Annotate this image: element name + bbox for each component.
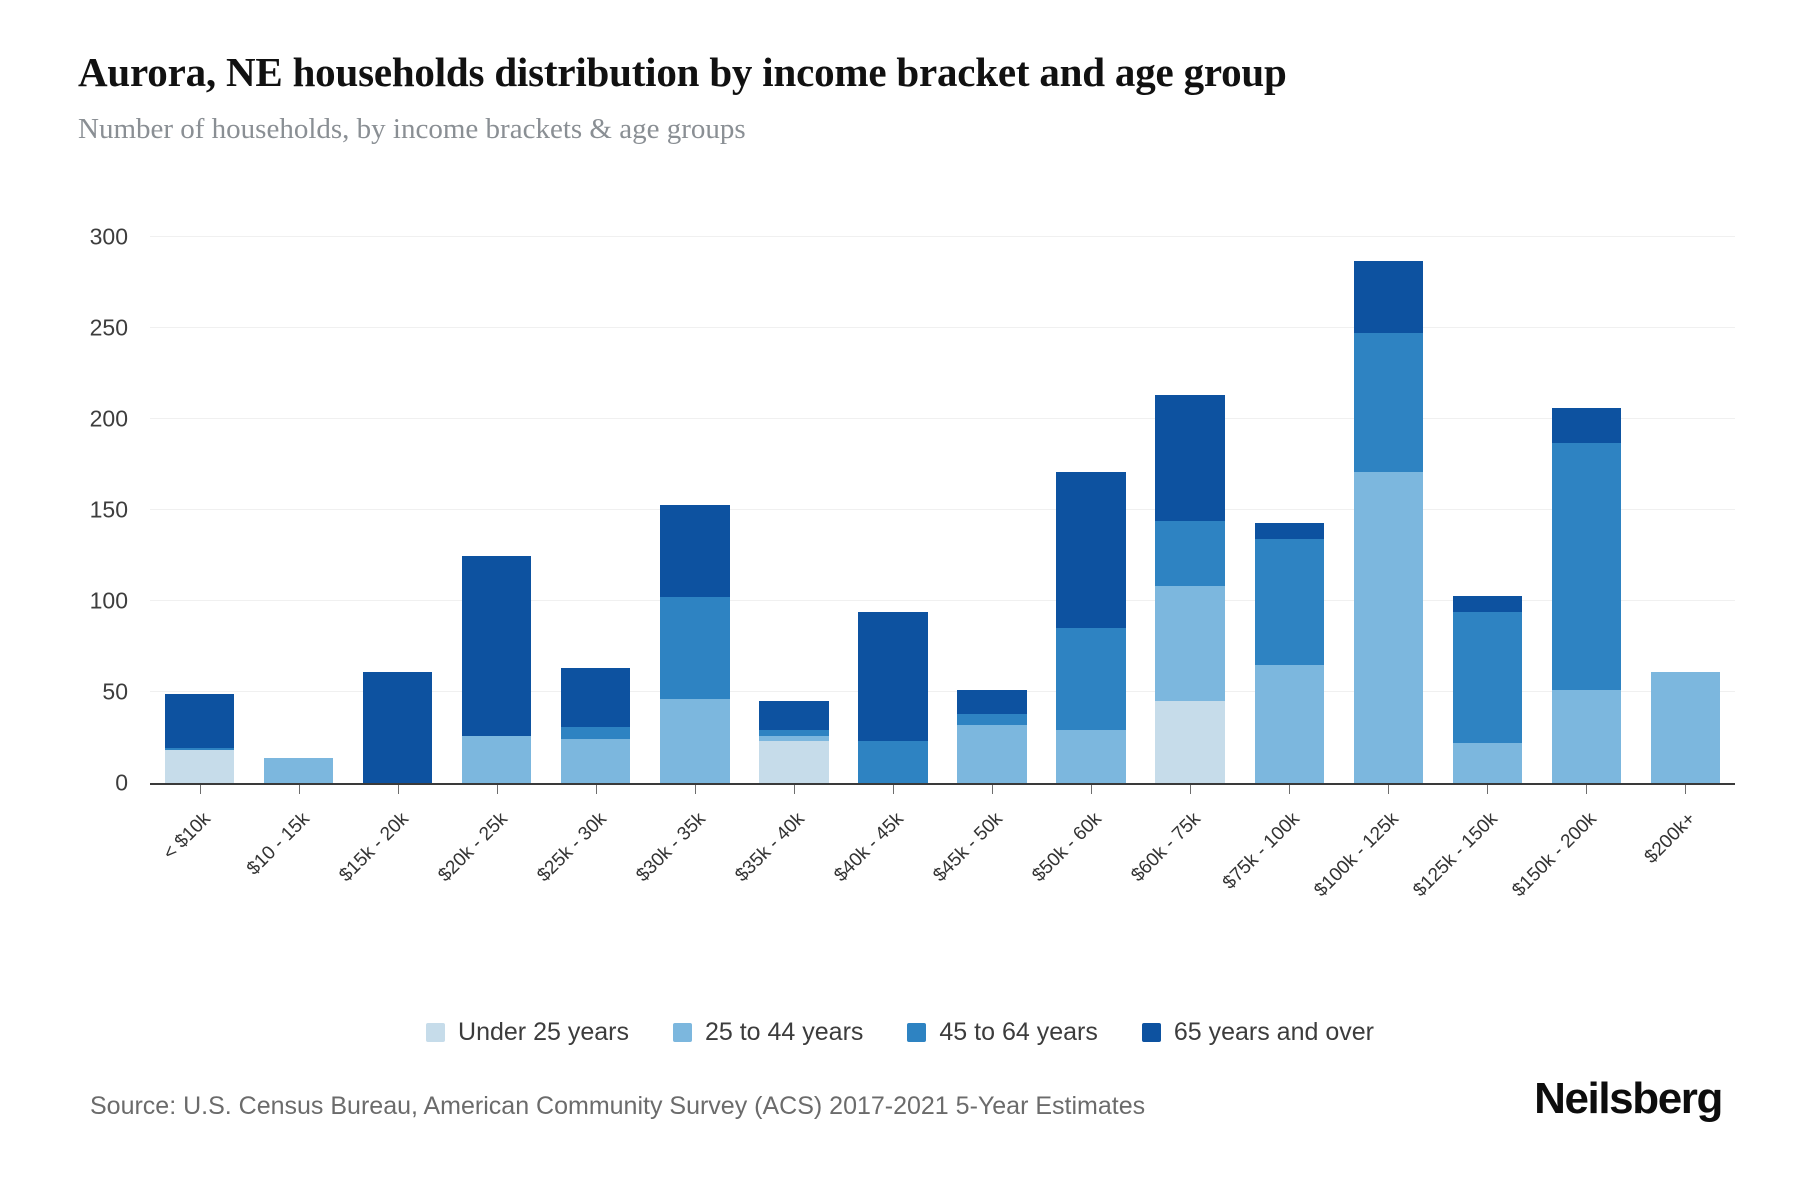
- legend-item[interactable]: 45 to 64 years: [907, 1018, 1097, 1047]
- legend-swatch-icon: [673, 1023, 692, 1042]
- x-tick-label: $40k - 45k: [830, 808, 908, 886]
- bar-segment[interactable]: [1255, 665, 1324, 783]
- y-tick-label: 50: [48, 679, 128, 706]
- chart-footer: Source: U.S. Census Bureau, American Com…: [0, 1092, 1800, 1152]
- x-tick-mark: [1091, 785, 1092, 794]
- bar-segment[interactable]: [1255, 523, 1324, 539]
- bar-stack: [1056, 472, 1125, 783]
- x-tick-label: $200k+: [1641, 808, 1701, 868]
- bar-segment[interactable]: [561, 727, 630, 740]
- bar-segment[interactable]: [858, 741, 927, 783]
- bar-stack: [660, 505, 729, 783]
- x-tick-label: $25k - 30k: [533, 808, 611, 886]
- source-note: Source: U.S. Census Bureau, American Com…: [90, 1092, 1145, 1121]
- x-tick-mark: [299, 785, 300, 794]
- y-tick-label: 250: [48, 315, 128, 342]
- x-tick-label: $20k - 25k: [434, 808, 512, 886]
- bar-segment[interactable]: [1056, 730, 1125, 783]
- y-tick-label: 100: [48, 588, 128, 615]
- bar-stack: [1651, 672, 1720, 783]
- bar-group[interactable]: [264, 237, 333, 783]
- x-tick-label: < $10k: [159, 808, 215, 864]
- x-tick-label: $125k - 150k: [1410, 808, 1503, 901]
- y-tick-label: 150: [48, 497, 128, 524]
- y-tick-label: 200: [48, 406, 128, 433]
- bar-segment[interactable]: [462, 736, 531, 783]
- x-tick-mark: [992, 785, 993, 794]
- bar-group[interactable]: [462, 237, 531, 783]
- bar-group[interactable]: [1651, 237, 1720, 783]
- bar-segment[interactable]: [957, 714, 1026, 725]
- x-tick-label-wrap: $20k - 25k: [434, 800, 512, 878]
- legend-label: 65 years and over: [1174, 1018, 1374, 1047]
- bar-stack: [1354, 261, 1423, 783]
- x-tick-mark: [1487, 785, 1488, 794]
- bar-segment[interactable]: [1354, 261, 1423, 334]
- bar-stack: [858, 612, 927, 783]
- bar-segment[interactable]: [660, 597, 729, 699]
- bar-stack: [561, 668, 630, 783]
- x-tick-label-wrap: $200k+: [1641, 800, 1701, 860]
- legend-item[interactable]: 25 to 44 years: [673, 1018, 863, 1047]
- x-tick-mark: [695, 785, 696, 794]
- bar-group[interactable]: [165, 237, 234, 783]
- bar-group[interactable]: [1354, 237, 1423, 783]
- x-tick-mark: [596, 785, 597, 794]
- x-tick-mark: [1190, 785, 1191, 794]
- x-tick-mark: [1289, 785, 1290, 794]
- bar-segment[interactable]: [1155, 701, 1224, 783]
- bar-segment[interactable]: [1155, 586, 1224, 701]
- x-tick-label-wrap: $60k - 75k: [1127, 800, 1205, 878]
- bar-segment[interactable]: [264, 758, 333, 783]
- bar-segment[interactable]: [165, 694, 234, 749]
- x-tick-label-wrap: $50k - 60k: [1028, 800, 1106, 878]
- bar-segment[interactable]: [1651, 672, 1720, 783]
- x-tick-label-wrap: $25k - 30k: [533, 800, 611, 878]
- x-tick-label-wrap: < $10k: [159, 800, 215, 856]
- y-tick-label: 0: [48, 770, 128, 797]
- x-tick-mark: [1685, 785, 1686, 794]
- bar-segment[interactable]: [1155, 521, 1224, 587]
- bar-segment[interactable]: [1056, 472, 1125, 629]
- bar-group[interactable]: [1552, 237, 1621, 783]
- x-tick-label-wrap: $45k - 50k: [929, 800, 1007, 878]
- y-tick-label: 300: [48, 224, 128, 251]
- x-tick-mark: [1586, 785, 1587, 794]
- x-tick-label-wrap: $30k - 35k: [632, 800, 710, 878]
- bar-group[interactable]: [759, 237, 828, 783]
- bar-group[interactable]: [1056, 237, 1125, 783]
- legend-swatch-icon: [426, 1023, 445, 1042]
- bar-segment[interactable]: [660, 699, 729, 783]
- legend-swatch-icon: [907, 1023, 926, 1042]
- x-tick-mark: [794, 785, 795, 794]
- bar-stack: [1155, 395, 1224, 783]
- x-tick-label-wrap: $15k - 20k: [335, 800, 413, 878]
- x-tick-label-wrap: $10 - 15k: [243, 800, 315, 872]
- legend-item[interactable]: 65 years and over: [1142, 1018, 1374, 1047]
- bar-segment[interactable]: [1056, 628, 1125, 730]
- bar-group[interactable]: [561, 237, 630, 783]
- x-tick-label-wrap: $125k - 150k: [1410, 800, 1503, 893]
- x-tick-label-wrap: $100k - 125k: [1311, 800, 1404, 893]
- bar-segment[interactable]: [1354, 472, 1423, 783]
- bar-group[interactable]: [363, 237, 432, 783]
- bar-segment[interactable]: [1552, 690, 1621, 783]
- bar-stack: [1552, 408, 1621, 783]
- bar-group[interactable]: [660, 237, 729, 783]
- bar-series-container: [150, 237, 1735, 783]
- x-tick-label: $150k - 200k: [1509, 808, 1602, 901]
- legend-label: 25 to 44 years: [705, 1018, 863, 1047]
- chart-page: Aurora, NE households distribution by in…: [0, 0, 1800, 1200]
- bar-segment[interactable]: [957, 725, 1026, 783]
- bar-segment[interactable]: [363, 672, 432, 783]
- bar-segment[interactable]: [1453, 596, 1522, 612]
- x-tick-label: $60k - 75k: [1127, 808, 1205, 886]
- bar-segment[interactable]: [1354, 333, 1423, 471]
- bar-stack: [957, 690, 1026, 783]
- bar-group[interactable]: [858, 237, 927, 783]
- bar-segment[interactable]: [858, 612, 927, 741]
- x-tick-label-wrap: $150k - 200k: [1509, 800, 1602, 893]
- bar-group[interactable]: [1155, 237, 1224, 783]
- bar-group[interactable]: [1453, 237, 1522, 783]
- x-tick-mark: [1388, 785, 1389, 794]
- x-tick-mark: [497, 785, 498, 794]
- bar-segment[interactable]: [561, 668, 630, 726]
- bar-segment[interactable]: [1552, 443, 1621, 691]
- legend-label: 45 to 64 years: [939, 1018, 1097, 1047]
- x-tick-label-wrap: $75k - 100k: [1219, 800, 1305, 886]
- x-tick-label-wrap: $40k - 45k: [830, 800, 908, 878]
- bar-segment[interactable]: [1155, 395, 1224, 521]
- bar-stack: [165, 694, 234, 783]
- bar-segment[interactable]: [561, 739, 630, 783]
- bar-group[interactable]: [957, 237, 1026, 783]
- chart-legend: Under 25 years25 to 44 years45 to 64 yea…: [0, 1018, 1800, 1047]
- bar-segment[interactable]: [660, 505, 729, 598]
- x-tick-label: $100k - 125k: [1311, 808, 1404, 901]
- brand-logo: Neilsberg: [1534, 1074, 1722, 1124]
- x-tick-label-wrap: $35k - 40k: [731, 800, 809, 878]
- bar-segment[interactable]: [957, 690, 1026, 714]
- x-tick-label: $50k - 60k: [1028, 808, 1106, 886]
- x-axis-line: [150, 783, 1735, 785]
- x-tick-label: $15k - 20k: [335, 808, 413, 886]
- bar-stack: [759, 701, 828, 783]
- bar-segment[interactable]: [1552, 408, 1621, 443]
- x-tick-label: $10 - 15k: [243, 808, 315, 880]
- bar-segment[interactable]: [165, 750, 234, 783]
- bar-stack: [264, 758, 333, 783]
- bar-segment[interactable]: [1255, 539, 1324, 665]
- bar-segment[interactable]: [1453, 743, 1522, 783]
- x-tick-label: $75k - 100k: [1219, 808, 1305, 894]
- bar-segment[interactable]: [759, 741, 828, 783]
- legend-label: Under 25 years: [458, 1018, 629, 1047]
- bar-stack: [363, 672, 432, 783]
- bar-stack: [1255, 523, 1324, 783]
- bar-group[interactable]: [1255, 237, 1324, 783]
- x-tick-label: $35k - 40k: [731, 808, 809, 886]
- x-tick-mark: [893, 785, 894, 794]
- x-tick-label: $30k - 35k: [632, 808, 710, 886]
- x-tick-mark: [398, 785, 399, 794]
- x-tick-mark: [200, 785, 201, 794]
- legend-swatch-icon: [1142, 1023, 1161, 1042]
- x-tick-label: $45k - 50k: [929, 808, 1007, 886]
- bar-stack: [1453, 596, 1522, 783]
- bar-segment[interactable]: [462, 556, 531, 736]
- legend-item[interactable]: Under 25 years: [426, 1018, 629, 1047]
- bar-segment[interactable]: [1453, 612, 1522, 743]
- bar-stack: [462, 556, 531, 783]
- bar-segment[interactable]: [759, 701, 828, 730]
